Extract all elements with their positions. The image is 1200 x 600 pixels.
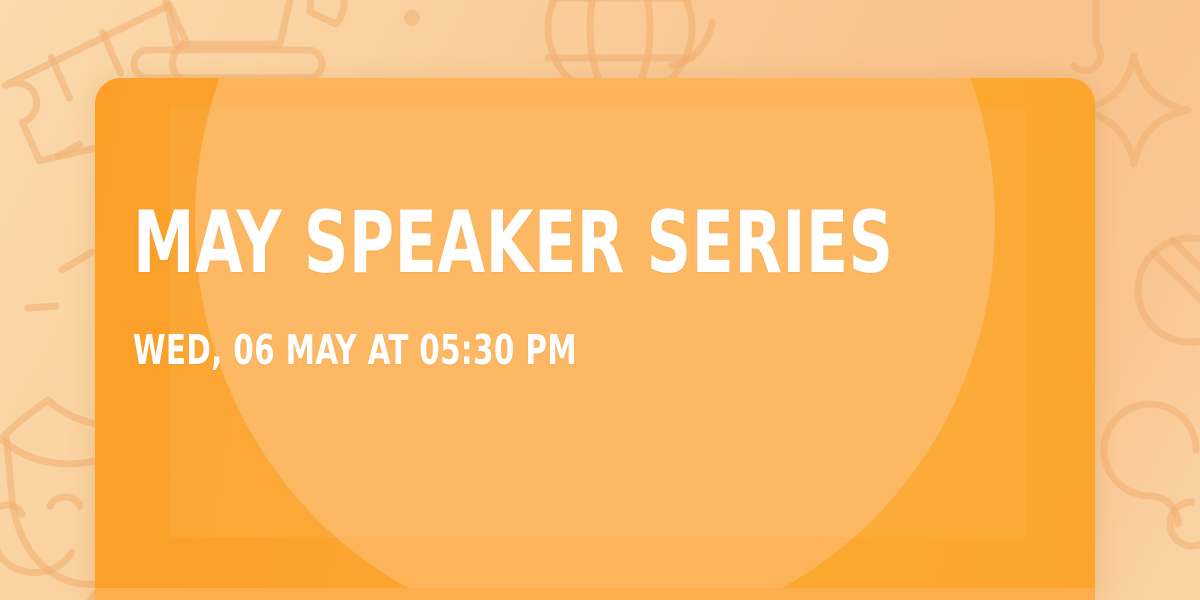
microphone-icon <box>1138 238 1200 370</box>
card-bottom-strip <box>95 588 1095 600</box>
event-card[interactable]: MAY SPEAKER SERIES WED, 06 MAY AT 05:30 … <box>95 78 1095 600</box>
card-text-block: MAY SPEAKER SERIES WED, 06 MAY AT 05:30 … <box>133 206 1033 371</box>
event-datetime: WED, 06 MAY AT 05:30 PM <box>133 282 853 371</box>
confetti-popper-icon <box>356 0 420 26</box>
balloon-icon <box>1104 404 1200 546</box>
card-decorative-base <box>95 588 1095 600</box>
confetti-dash-icon <box>58 144 80 156</box>
podium-icon <box>134 0 344 78</box>
sparkle-icon <box>1080 56 1188 164</box>
event-banner: MAY SPEAKER SERIES WED, 06 MAY AT 05:30 … <box>0 0 1200 600</box>
star-burst-icon <box>672 22 712 66</box>
balloon-icon <box>1074 0 1118 71</box>
page-title: MAY SPEAKER SERIES <box>133 206 853 282</box>
